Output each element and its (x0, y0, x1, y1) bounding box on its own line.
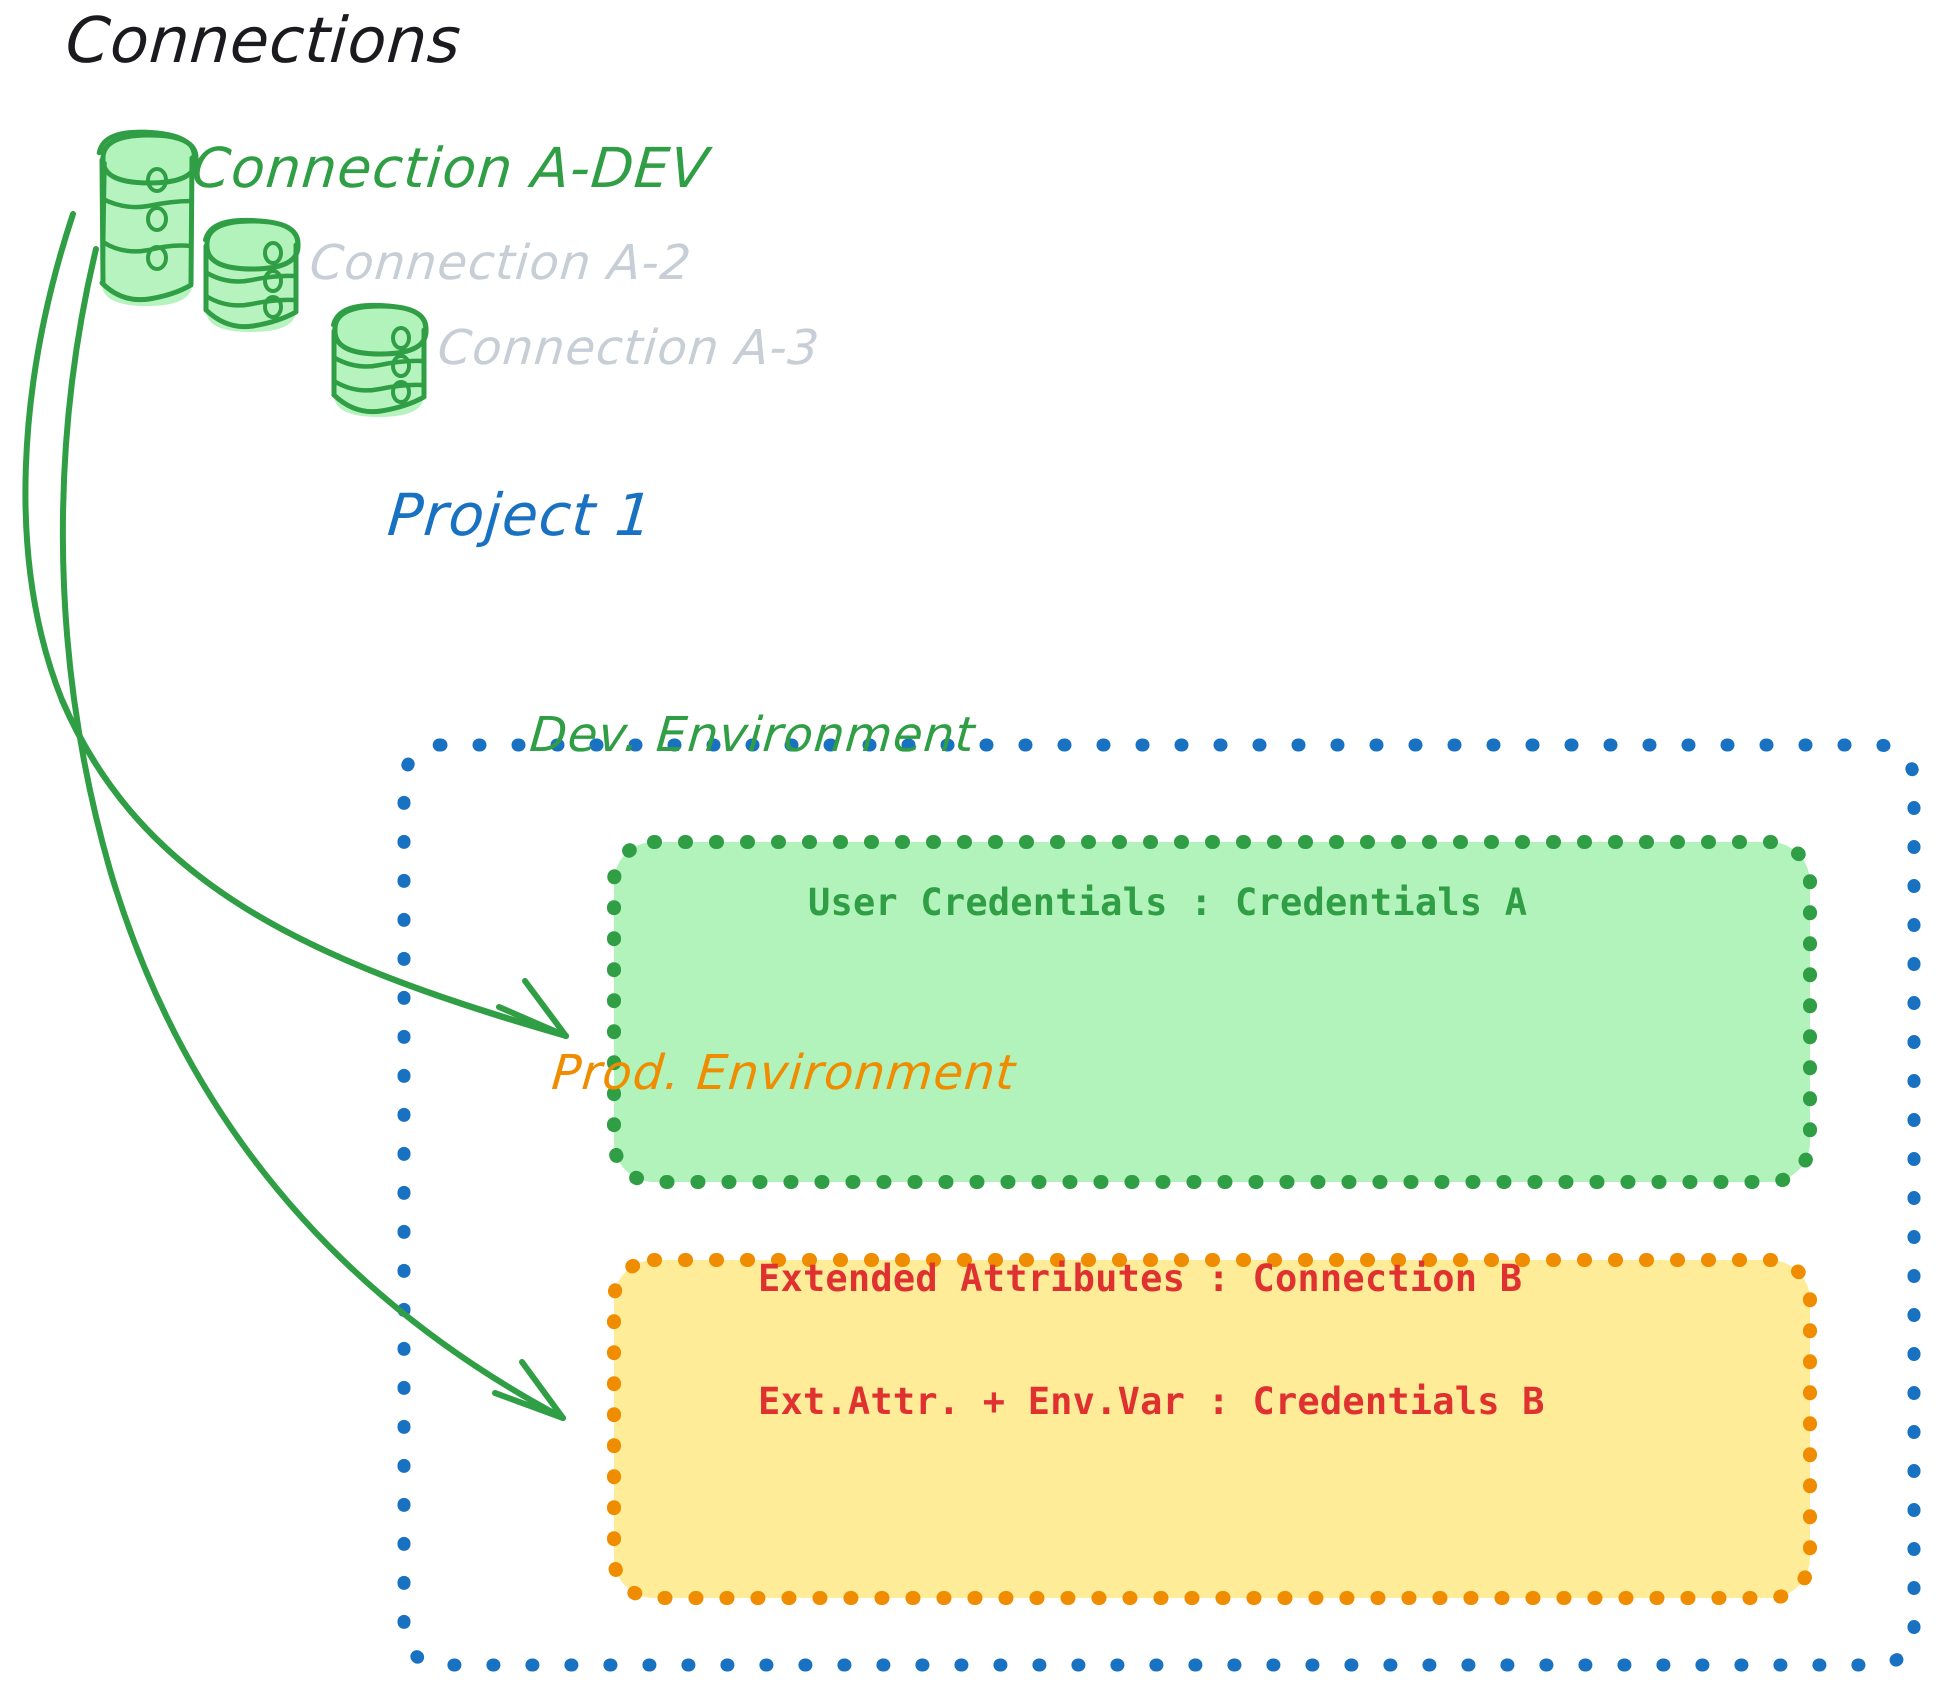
db-label-conn-a-3: Connection A-3 (436, 323, 822, 373)
database-icon-conn-a-3[interactable] (333, 305, 426, 417)
project-title: Project 1 (385, 485, 655, 546)
db-label-conn-a-dev: Connection A-DEV (189, 140, 711, 198)
arrow-connection-to-prod (63, 249, 563, 1418)
diagram-canvas: Connections Connection A-DEV Connection … (0, 0, 1938, 1691)
page-title: Connections (64, 8, 463, 74)
dev-environment-title: Dev. Environment (528, 710, 977, 760)
prod-line-ext-attr-env-var: Ext.Attr. + Env.Var : Credentials B (758, 1379, 1545, 1424)
dev-credentials-line: User Credentials : Credentials A (808, 884, 1527, 923)
database-icon-conn-a-dev[interactable] (99, 132, 196, 306)
database-icon-conn-a-2[interactable] (205, 220, 298, 332)
prod-environment-title: Prod. Environment (550, 1048, 1018, 1098)
prod-attributes-block: Extended Attributes : Connection B Ext.A… (758, 1178, 1545, 1501)
db-label-conn-a-2: Connection A-2 (308, 238, 694, 288)
prod-line-extended-attributes: Extended Attributes : Connection B (758, 1256, 1545, 1301)
